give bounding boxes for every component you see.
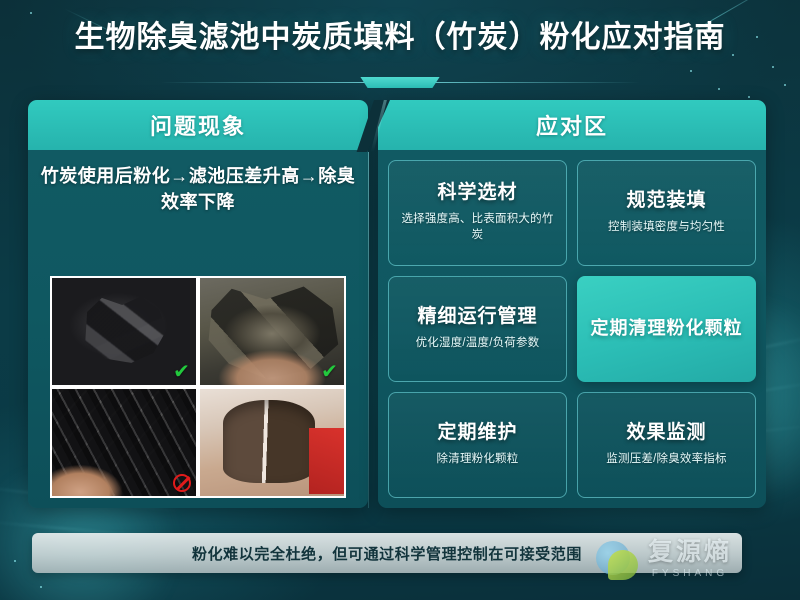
response-card-regular-maintenance[interactable]: 定期维护 除清理粉化颗粒	[388, 392, 567, 498]
photo-good-handheld-charcoal[interactable]: ✔	[200, 278, 344, 385]
response-panel: 应对区 科学选材 选择强度高、比表面积大的竹炭 规范装填 控制装填密度与均匀性 …	[378, 100, 766, 508]
response-panel-header: 应对区	[378, 100, 766, 150]
check-icon: ✔	[172, 362, 191, 381]
title-block: 生物除臭滤池中炭质填料（竹炭）粉化应对指南	[0, 12, 800, 56]
background-dot	[784, 84, 786, 86]
problem-panel-header-label: 问题现象	[150, 109, 246, 141]
response-card-grid: 科学选材 选择强度高、比表面积大的竹炭 规范装填 控制装填密度与均匀性 精细运行…	[386, 158, 758, 500]
footer-banner: 粉化难以完全杜绝，但可通过科学管理控制在可接受范围	[32, 533, 742, 573]
card-subtitle: 监测压差/除臭效率指标	[606, 451, 726, 468]
background-dot	[748, 96, 750, 98]
issue-statement: 竹炭使用后粉化→滤池压差升高→除臭效率下降	[28, 150, 368, 223]
card-subtitle: 控制装填密度与均匀性	[608, 219, 725, 236]
response-card-effect-monitoring[interactable]: 效果监测 监测压差/除臭效率指标	[577, 392, 756, 498]
problem-panel: 问题现象 竹炭使用后粉化→滤池压差升高→除臭效率下降 ✔ ✔	[28, 100, 368, 508]
prohibited-icon	[321, 474, 339, 492]
background-dot	[690, 70, 692, 72]
panel-vertical-divider	[368, 152, 369, 508]
card-title: 效果监测	[626, 422, 706, 445]
card-title: 定期维护	[437, 422, 517, 445]
photo-good-bulk-charcoal[interactable]: ✔	[52, 278, 196, 385]
background-dot	[14, 560, 16, 562]
card-subtitle: 选择强度高、比表面积大的竹炭	[397, 211, 558, 244]
card-subtitle: 优化湿度/温度/负荷参数	[416, 335, 540, 352]
title-accent-gem	[355, 77, 445, 88]
background-dot	[718, 88, 720, 90]
card-title: 规范装填	[626, 190, 706, 213]
card-title: 精细运行管理	[417, 306, 537, 329]
check-icon: ✔	[320, 362, 339, 381]
card-subtitle: 除清理粉化颗粒	[437, 451, 519, 468]
problem-photo-grid: ✔ ✔	[50, 276, 346, 498]
response-panel-body: 科学选材 选择强度高、比表面积大的竹炭 规范装填 控制装填密度与均匀性 精细运行…	[378, 150, 766, 508]
response-card-material-selection[interactable]: 科学选材 选择强度高、比表面积大的竹炭	[388, 160, 567, 266]
photo-bad-fragmented-charcoal[interactable]	[52, 389, 196, 496]
problem-panel-body: 竹炭使用后粉化→滤池压差升高→除臭效率下降 ✔ ✔	[28, 150, 368, 508]
card-title: 定期清理粉化颗粒	[591, 318, 743, 340]
background-dot	[40, 586, 42, 588]
background-dot	[772, 66, 774, 68]
response-card-standard-packing[interactable]: 规范装填 控制装填密度与均匀性	[577, 160, 756, 266]
page-title: 生物除臭滤池中炭质填料（竹炭）粉化应对指南	[0, 12, 800, 56]
card-title: 科学选材	[437, 182, 517, 205]
photo-bad-powdered-charcoal[interactable]	[200, 389, 344, 496]
response-card-fine-operation-management[interactable]: 精细运行管理 优化湿度/温度/负荷参数	[388, 276, 567, 382]
response-panel-header-label: 应对区	[536, 109, 608, 141]
footer-banner-text: 粉化难以完全杜绝，但可通过科学管理控制在可接受范围	[192, 543, 582, 564]
response-card-regular-powder-cleaning[interactable]: 定期清理粉化颗粒	[577, 276, 756, 382]
prohibited-icon	[173, 474, 191, 492]
problem-panel-header: 问题现象	[28, 100, 368, 150]
